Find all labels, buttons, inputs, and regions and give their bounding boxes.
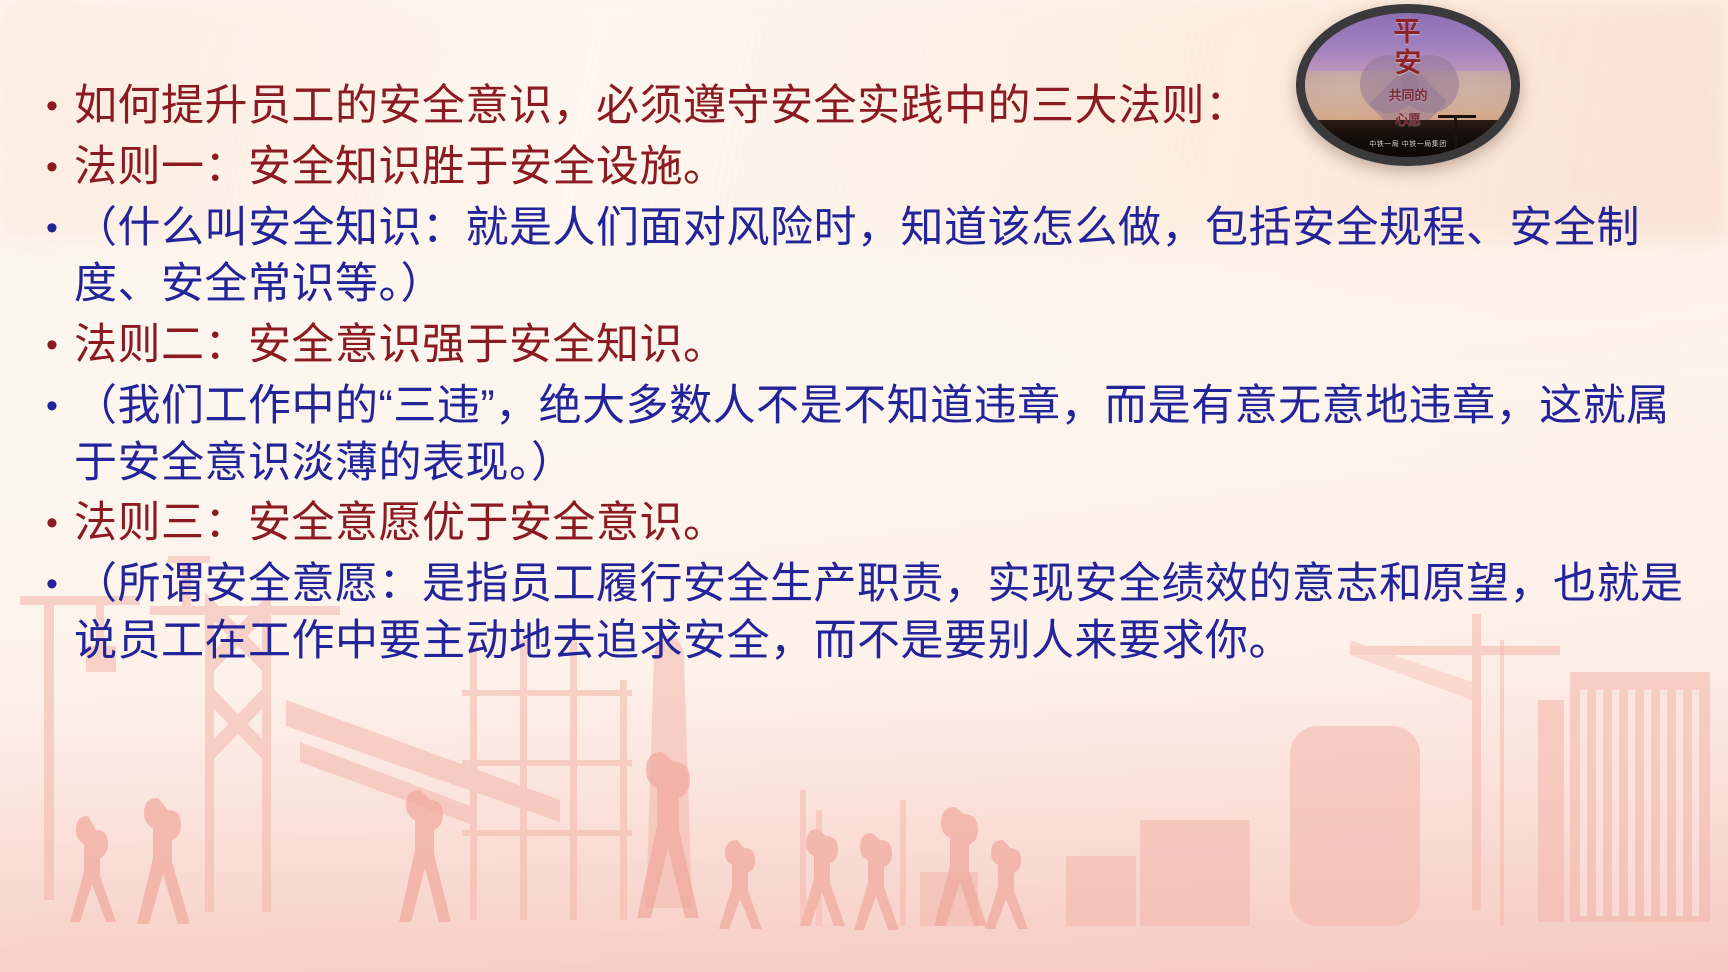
- bullet-line-text: 法则一：安全知识胜于安全设施。: [74, 139, 1698, 196]
- bullet-line-text: 如何提升员工的安全意识，必须遵守安全实践中的三大法则：: [74, 78, 1698, 135]
- bullet-line-text: 法则三：安全意愿优于安全意识。: [74, 495, 1698, 552]
- bullet-line-text: （所谓安全意愿：是指员工履行安全生产职责，实现安全绩效的意志和原望，也就是说员工…: [74, 556, 1698, 670]
- bullet-line: • 法则一：安全知识胜于安全设施。: [30, 139, 1698, 196]
- bullet-icon: •: [30, 562, 74, 606]
- bullet-line: • （所谓安全意愿：是指员工履行安全生产职责，实现安全绩效的意志和原望，也就是说…: [30, 556, 1698, 670]
- bullet-icon: •: [30, 145, 74, 189]
- bullet-icon: •: [30, 323, 74, 367]
- slide-canvas: 平 安 共同的 心愿 中铁一局 中铁一局集团 • 如何提升员工的安全意识，必须遵…: [0, 0, 1728, 972]
- bullet-icon: •: [30, 501, 74, 545]
- bullet-line: • 法则二：安全意识强于安全知识。: [30, 317, 1698, 374]
- bullet-line: • （什么叫安全知识：就是人们面对风险时，知道该怎么做，包括安全规程、安全制度、…: [30, 200, 1698, 314]
- bullet-line: • 如何提升员工的安全意识，必须遵守安全实践中的三大法则：: [30, 78, 1698, 135]
- bullet-line-text: （什么叫安全知识：就是人们面对风险时，知道该怎么做，包括安全规程、安全制度、安全…: [74, 200, 1698, 314]
- bullet-icon: •: [30, 84, 74, 128]
- bullet-icon: •: [30, 206, 74, 250]
- bullet-line-text: 法则二：安全意识强于安全知识。: [74, 317, 1698, 374]
- bullet-line: • 法则三：安全意愿优于安全意识。: [30, 495, 1698, 552]
- slide-content-body: • 如何提升员工的安全意识，必须遵守安全实践中的三大法则： • 法则一：安全知识…: [0, 0, 1728, 972]
- bullet-line: • （我们工作中的“三违”，绝大多数人不是不知道违章，而是有意无意地违章，这就属…: [30, 378, 1698, 492]
- bullet-line-text: （我们工作中的“三违”，绝大多数人不是不知道违章，而是有意无意地违章，这就属于安…: [74, 378, 1698, 492]
- bullet-icon: •: [30, 384, 74, 428]
